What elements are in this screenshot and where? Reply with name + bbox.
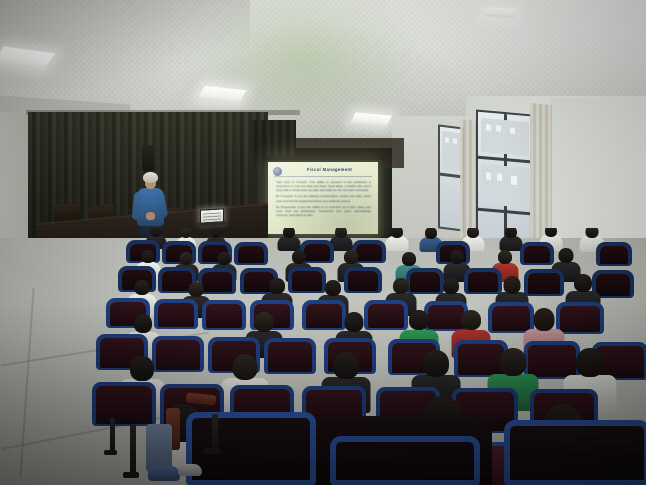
- auditorium-seat: [268, 342, 312, 372]
- auditorium-seat: [96, 386, 152, 424]
- auditorium-seat: [600, 246, 628, 264]
- slide-paragraph: Take Care of Yourself. Your ability to s…: [276, 180, 371, 192]
- auditorium-seat: [348, 271, 378, 291]
- auditorium-seat: [238, 246, 264, 263]
- organization-logo-icon: [273, 167, 282, 176]
- slide-paragraph: Be Responsive. If you are called on to c…: [276, 205, 371, 217]
- auditorium-seat: [596, 274, 630, 296]
- presenter-hair: [143, 172, 158, 183]
- auditorium-seat: [158, 303, 194, 327]
- sneaker: [178, 464, 202, 476]
- presenter-hand: [146, 212, 155, 220]
- slide-body-text: Take Care of Yourself. Your ability to s…: [276, 180, 371, 219]
- foreground-seat-frame: [504, 420, 646, 485]
- lecture-hall-photograph: Fiscal Management Take Care of Yourself.…: [0, 0, 646, 485]
- auditorium-seat: [524, 246, 550, 263]
- laptop-screen-content: [203, 212, 221, 221]
- auditorium-seat: [528, 273, 560, 294]
- ceiling-light-panel: [485, 7, 518, 18]
- audience-member: [278, 228, 300, 250]
- slide-divider: [274, 176, 372, 177]
- audience-member: [386, 228, 408, 250]
- slide-paragraph: Be Prepared. If you are starting a prese…: [276, 194, 371, 202]
- auditorium-seat: [206, 304, 242, 328]
- audience-member: [500, 228, 522, 250]
- audience-seating-area: [0, 228, 646, 485]
- exterior-window: [476, 110, 532, 247]
- foreground-seat-frame: [330, 436, 480, 485]
- auditorium-seat: [368, 304, 404, 328]
- auditorium-seat: [468, 272, 498, 292]
- sheer-vertical-curtain: [460, 119, 476, 241]
- sneaker: [148, 466, 180, 481]
- audience-legs: [146, 424, 172, 472]
- auditorium-seat: [560, 306, 600, 332]
- projection-screen-surface: Fiscal Management Take Care of Yourself.…: [268, 162, 378, 234]
- wall-mounted-speaker: [142, 145, 154, 171]
- slide-title: Fiscal Management: [286, 167, 373, 173]
